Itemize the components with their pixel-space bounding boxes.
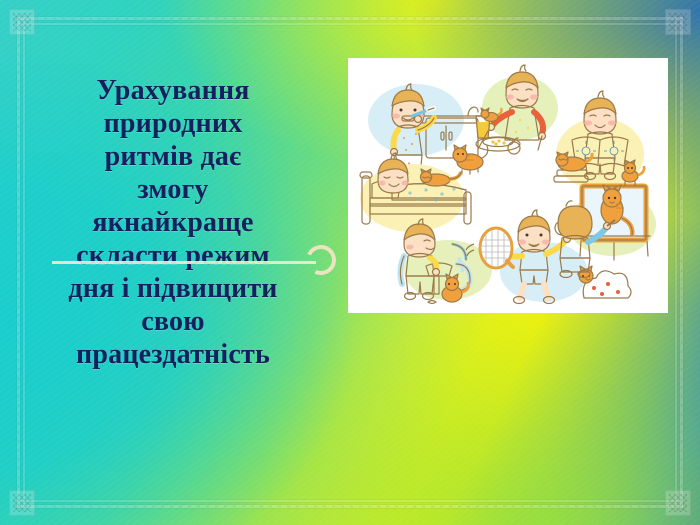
scene-washing-hands <box>400 219 492 304</box>
frame-dots-top <box>17 18 683 19</box>
daily-routine-illustration: .ol { stroke:#9a7a4a; stroke-width:1.2; … <box>348 58 668 313</box>
cat-icon <box>579 266 593 283</box>
frame-corner-ornament-top-right <box>665 9 691 35</box>
title-line-7: дня і підвищити <box>8 272 338 305</box>
title-line-5: якнайкраще <box>8 206 338 239</box>
title-line-9: працездатність <box>8 338 338 371</box>
frame-rule-top-inner <box>17 23 683 25</box>
title-line-2: природних <box>8 107 338 140</box>
title-line-8: свою <box>8 305 338 338</box>
slide-title: Урахування природних ритмів дає змогу як… <box>8 74 338 371</box>
frame-corner-ornament-top-left <box>9 9 35 35</box>
frame-rule-bottom-inner <box>17 500 683 502</box>
slide-root: Урахування природних ритмів дає змогу як… <box>0 0 700 525</box>
frame-rule-right <box>680 17 683 508</box>
frame-dots-right <box>681 17 682 508</box>
title-line-3: ритмів дає <box>8 140 338 173</box>
title-line-1: Урахування <box>8 74 338 107</box>
frame-rule-bottom <box>17 505 683 508</box>
title-line-6: скласти режим <box>8 239 338 272</box>
scene-sleeping-in-bed <box>360 153 471 232</box>
frame-dots-bottom <box>17 506 683 507</box>
accent-rule <box>52 261 316 264</box>
frame-rule-top <box>17 17 683 20</box>
frame-corner-ornament-bottom-right <box>665 490 691 516</box>
frame-corner-ornament-bottom-left <box>9 490 35 516</box>
frame-rule-right-inner <box>675 17 677 508</box>
scene-eating-breakfast <box>476 65 558 154</box>
title-line-4: змогу <box>8 173 338 206</box>
illustration-panel: .ol { stroke:#9a7a4a; stroke-width:1.2; … <box>348 58 668 313</box>
